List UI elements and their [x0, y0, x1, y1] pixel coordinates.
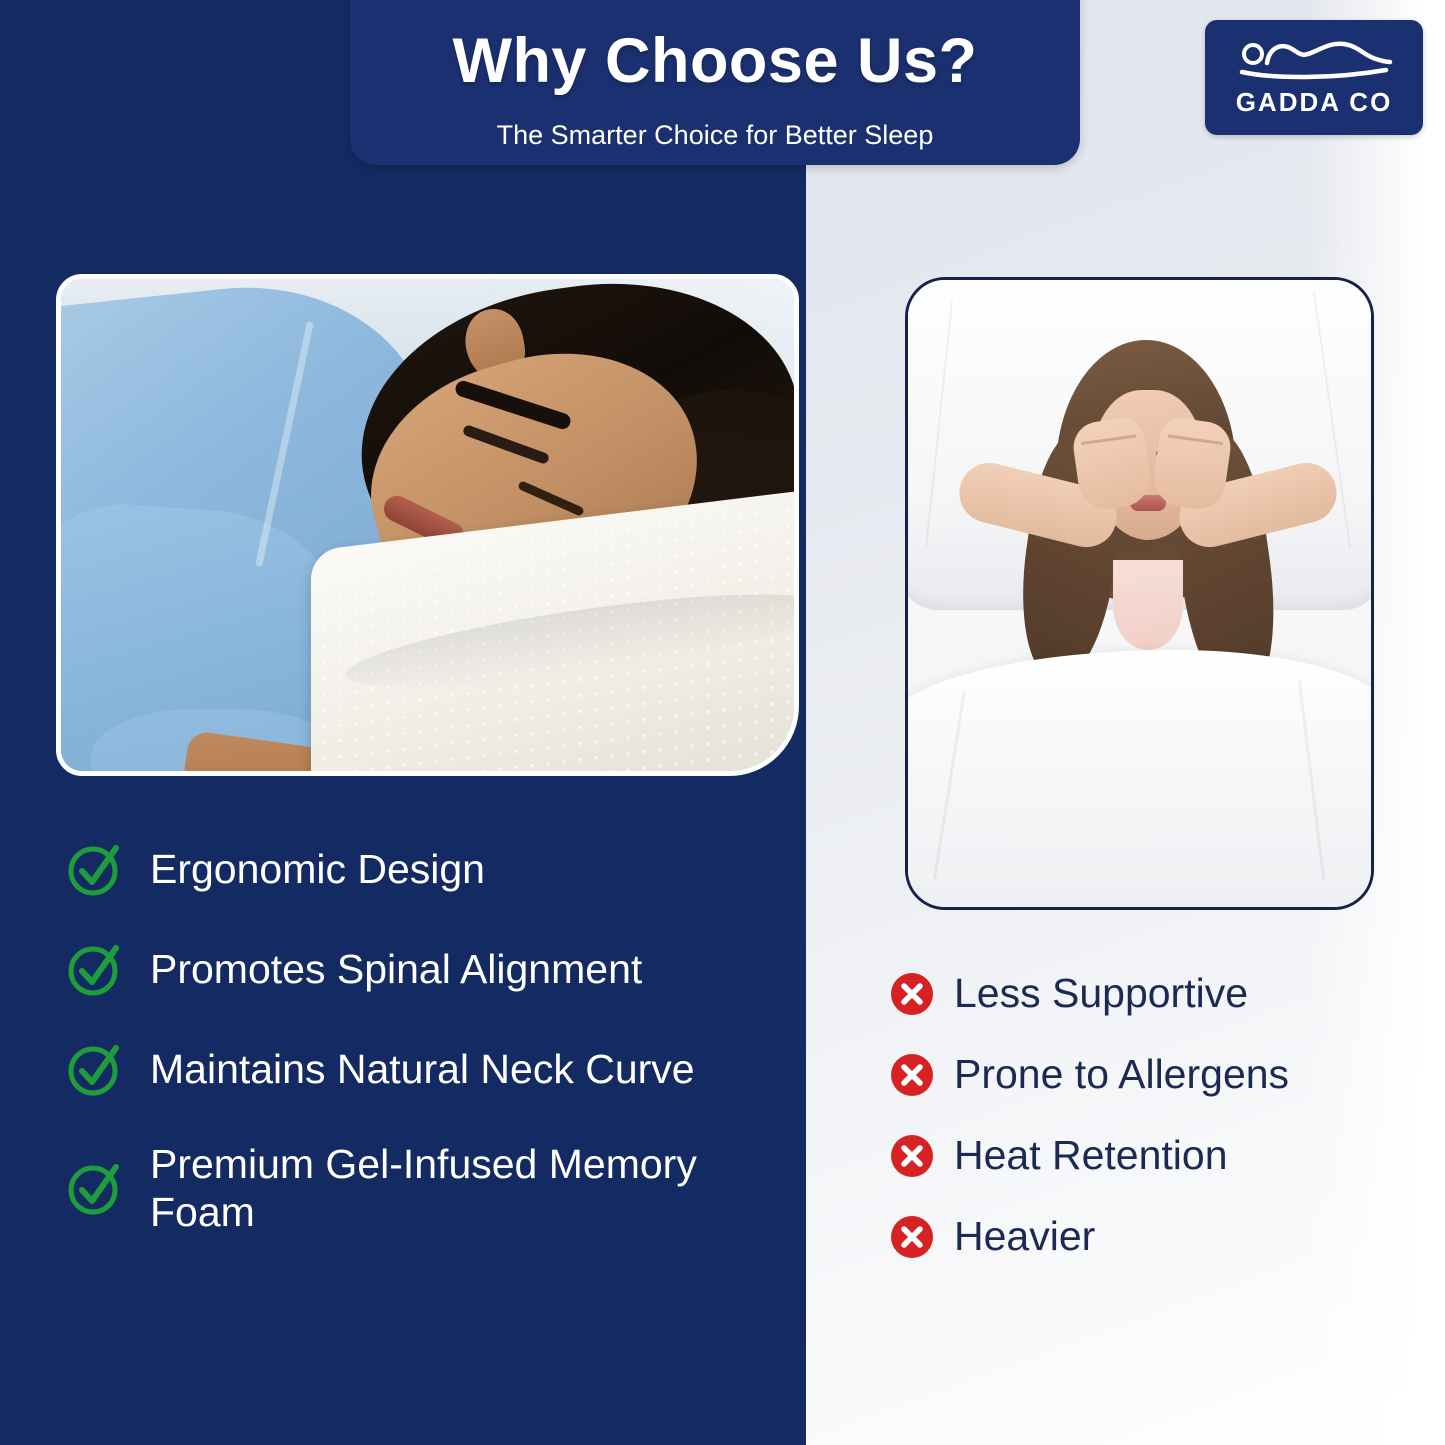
x-circle-icon	[890, 1215, 934, 1259]
con-label: Heat Retention	[954, 1132, 1228, 1179]
check-circle-icon	[66, 1040, 124, 1098]
page-title: Why Choose Us?	[350, 30, 1080, 93]
pro-label: Maintains Natural Neck Curve	[150, 1045, 695, 1093]
header-banner: Why Choose Us? The Smarter Choice for Be…	[350, 0, 1080, 165]
x-circle-icon	[890, 1134, 934, 1178]
con-label: Less Supportive	[954, 970, 1248, 1017]
check-circle-icon	[66, 840, 124, 898]
con-label: Heavier	[954, 1213, 1095, 1260]
cons-list: Less Supportive Prone to Allergens Heat …	[890, 970, 1430, 1295]
page-subtitle: The Smarter Choice for Better Sleep	[350, 122, 1080, 149]
infographic-canvas: Why Choose Us? The Smarter Choice for Be…	[0, 0, 1445, 1445]
photo-ergonomic-pillow: GADDA CO	[56, 274, 799, 776]
pros-list: Ergonomic Design Promotes Spinal Alignme…	[66, 840, 786, 1279]
logo-text: GADDA CO	[1236, 87, 1393, 118]
list-item: Heat Retention	[890, 1132, 1430, 1179]
pro-label: Promotes Spinal Alignment	[150, 945, 642, 993]
x-circle-icon	[890, 972, 934, 1016]
list-item: Promotes Spinal Alignment	[66, 940, 786, 998]
list-item: Heavier	[890, 1213, 1430, 1260]
x-circle-icon	[890, 1053, 934, 1097]
check-circle-icon	[66, 940, 124, 998]
photo-ordinary-pillow	[905, 277, 1374, 910]
list-item: Maintains Natural Neck Curve	[66, 1040, 786, 1098]
check-circle-icon	[66, 1159, 124, 1217]
con-label: Prone to Allergens	[954, 1051, 1289, 1098]
list-item: Premium Gel-Infused Memory Foam	[66, 1140, 786, 1237]
pro-label: Premium Gel-Infused Memory Foam	[150, 1140, 786, 1237]
list-item: Less Supportive	[890, 970, 1430, 1017]
sleeping-person-icon	[1234, 37, 1394, 85]
list-item: Prone to Allergens	[890, 1051, 1430, 1098]
brand-logo: GADDA CO	[1205, 20, 1423, 135]
list-item: Ergonomic Design	[66, 840, 786, 898]
pro-label: Ergonomic Design	[150, 845, 485, 893]
